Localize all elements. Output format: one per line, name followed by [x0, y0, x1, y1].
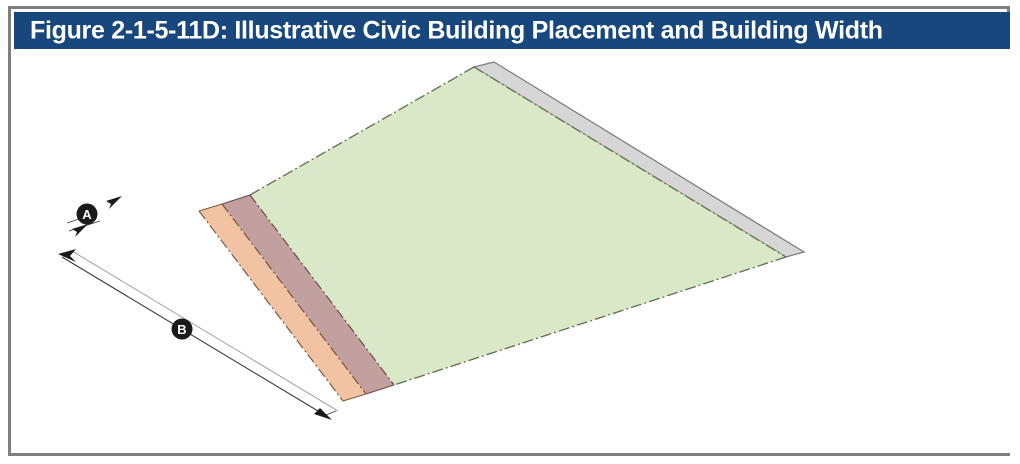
- dimension-a-arrow-lower: [72, 224, 88, 237]
- figure-frame: Figure 2-1-5-11D: Illustrative Civic Bui…: [8, 6, 1010, 456]
- callout-b-label: B: [177, 322, 186, 337]
- isometric-site-diagram: A B: [14, 49, 1010, 453]
- dimension-b-extension-end: [326, 411, 336, 415]
- figure-title: Figure 2-1-5-11D: Illustrative Civic Bui…: [30, 16, 883, 45]
- callout-a[interactable]: A: [77, 204, 98, 225]
- dimension-a-arrow-upper: [106, 196, 122, 209]
- dimension-b-arrow-end: [314, 402, 332, 420]
- callout-b[interactable]: B: [172, 319, 193, 340]
- figure-body: A B: [14, 49, 1010, 453]
- callout-a-label: A: [82, 207, 92, 222]
- figure-title-bar: Figure 2-1-5-11D: Illustrative Civic Bui…: [14, 12, 1010, 49]
